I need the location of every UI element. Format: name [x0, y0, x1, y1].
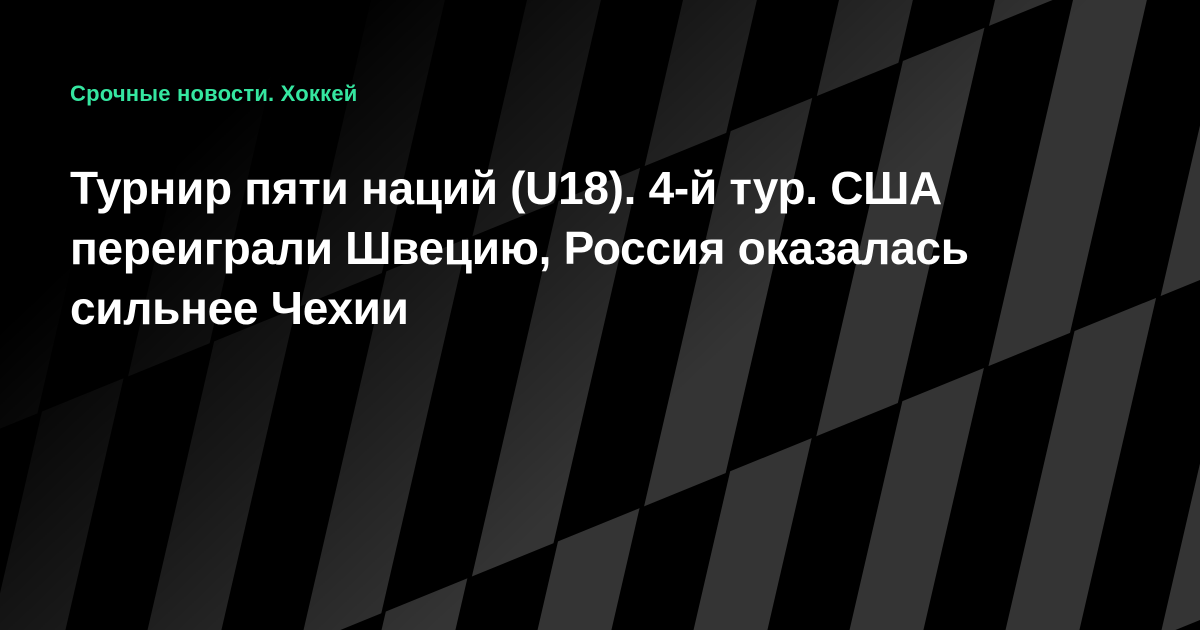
- news-share-card: Срочные новости. Хоккей Турнир пяти наци…: [0, 0, 1200, 630]
- category-kicker: Срочные новости. Хоккей: [70, 80, 358, 108]
- headline-line-3: сильнее Чехии: [70, 278, 1080, 338]
- headline-line-2: переиграли Швецию, Россия оказалась: [70, 218, 1080, 278]
- card-content: Срочные новости. Хоккей Турнир пяти наци…: [70, 0, 1110, 630]
- page-title: Турнир пяти наций (U18). 4-й тур. США пе…: [70, 158, 1080, 338]
- headline-line-1: Турнир пяти наций (U18). 4-й тур. США: [70, 158, 1080, 218]
